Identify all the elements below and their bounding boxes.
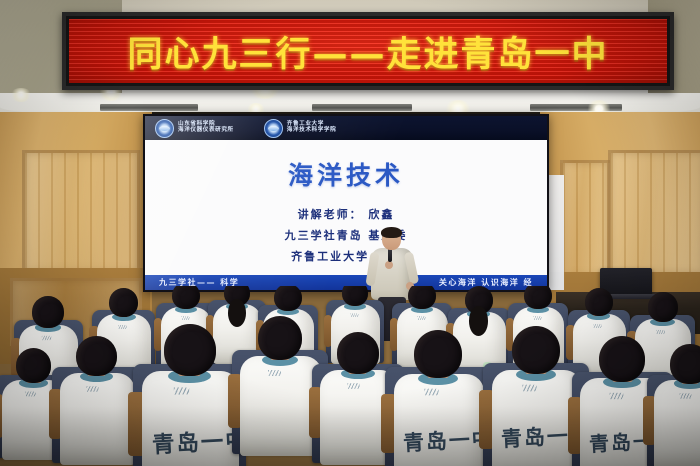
uniform-shoulder-stripe [609,393,623,399]
ceiling-vent [312,104,412,111]
uniform-shoulder-stripe [594,324,602,328]
slide-header: 山东省科学院 海洋仪器仪表研究所 齐鲁工业大学 海洋技术科学学院 [145,116,547,140]
slide-org-2-text: 齐鲁工业大学 海洋技术科学学院 [287,122,337,134]
uniform-shoulder-stripe [522,385,536,392]
uniform-shoulder-stripe [174,387,189,394]
wall-panel-right-inner [560,160,610,278]
auditorium-photo: 同心九三行——走进青岛一中 山东省科学院 海洋仪器仪表研究所 [0,0,700,466]
uniform-shoulder-stripe [268,370,281,376]
school-uniform [654,380,700,466]
wall-panel-texture [25,153,137,271]
head [258,316,302,360]
head [648,292,678,322]
wall-panel-texture [611,153,700,273]
uniform-shoulder-stripe [41,336,50,340]
uniform-shoulder-stripe [25,392,35,397]
uniform-shoulder-stripe [417,317,425,321]
audience: 青岛一中青岛一中青岛一中青岛一中 [0,286,700,466]
led-screen: 同心九三行——走进青岛一中 [69,19,667,83]
ceiling-vent [100,104,198,111]
presenter-hair [381,227,402,238]
uniform-shoulder-stripe [533,317,541,321]
presenter-hand-left [385,261,393,269]
uniform-shoulder-stripe [118,325,127,329]
head [16,348,51,383]
uniform-shoulder-stripe [680,393,692,398]
head [164,324,216,376]
uniform-shoulder-stripe [347,383,359,389]
head [670,344,700,384]
uniform-shoulder-stripe [351,314,359,318]
head [599,336,645,382]
wall-panel-left [22,150,140,274]
head [274,286,301,311]
slide-title: 海洋技术 [288,156,404,192]
slide-org-1-line2: 海洋仪器仪表研究所 [178,128,234,134]
head [172,286,199,309]
audience-member [58,336,137,465]
head [414,330,462,378]
projection-screen: 山东省科学院 海洋仪器仪表研究所 齐鲁工业大学 海洋技术科学学院 海洋技术 讲解… [143,114,549,292]
head [337,332,379,374]
slide-org-1: 山东省科学院 海洋仪器仪表研究所 [155,119,234,138]
head [109,288,138,317]
head [524,286,551,309]
slide-body: 海洋技术 讲解老师： 欣鑫 九三学社青岛 基层委 齐鲁工业大学 学院 [145,140,547,275]
uniform-shoulder-stripe [181,317,189,321]
uniform-shoulder-stripe [86,386,98,392]
ceiling-downlight [10,88,32,102]
head [585,288,613,316]
led-banner: 同心九三行——走进青岛一中 [62,12,674,90]
slide-org-2-line2: 海洋技术科学学院 [287,128,337,134]
led-banner-text: 同心九三行——走进青岛一中 [127,26,608,77]
university-seal-logo [264,119,283,138]
audience-member: 青岛一中 [392,330,487,466]
audience-member [652,344,700,466]
slide: 山东省科学院 海洋仪器仪表研究所 齐鲁工业大学 海洋技术科学学院 海洋技术 讲解… [145,116,547,290]
uniform-shoulder-stripe [656,330,665,334]
head [76,336,116,376]
head [408,286,435,309]
uniform-shoulder-stripe [424,389,438,396]
wall-panel-texture [563,163,607,275]
audience-member: 青岛一中 [140,324,241,466]
head [512,326,560,374]
institute-seal-logo [155,119,174,138]
slide-org-2: 齐鲁工业大学 海洋技术科学学院 [264,119,337,138]
wall-panel-right [608,150,700,276]
head [32,296,64,328]
slide-org-1-text: 山东省科学院 海洋仪器仪表研究所 [178,122,234,134]
slide-subtitle-line-1: 讲解老师： 欣鑫 [298,206,395,222]
